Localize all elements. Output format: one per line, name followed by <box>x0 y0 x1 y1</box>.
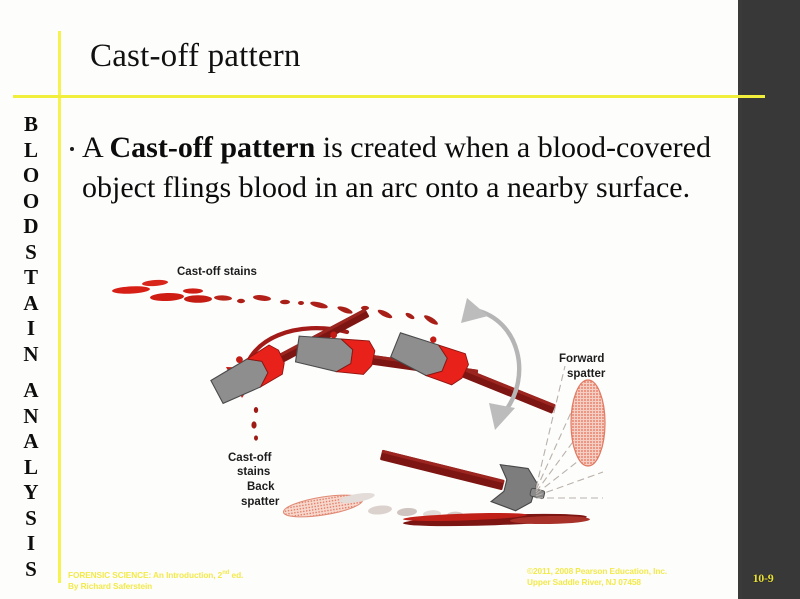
footer-citation-line1: FORENSIC SCIENCE: An Introduction, 2nd e… <box>68 568 398 581</box>
vertical-char-d: D <box>8 214 54 240</box>
vertical-char-l2: L <box>8 455 54 481</box>
vertical-char-n: N <box>8 342 54 368</box>
body-text: A Cast-off pattern is created when a blo… <box>82 128 728 208</box>
label-forward-spatter-2: spatter <box>567 368 606 380</box>
vertical-char-s3: S <box>8 557 54 583</box>
label-forward-spatter-1: Forward <box>559 353 604 365</box>
vertical-char-i2: I <box>8 531 54 557</box>
vertical-rule <box>58 31 61 583</box>
hammer-position-4 <box>376 433 550 516</box>
body-bullet-block: A Cast-off pattern is created when a blo… <box>68 128 728 208</box>
slide-number: 10-9 <box>742 571 784 586</box>
label-castoff-stains-left-1: Cast-off <box>228 452 272 464</box>
vertical-char-i1: I <box>8 316 54 342</box>
footer-copyright: ©2011, 2008 Pearson Education, Inc. Uppe… <box>527 566 742 588</box>
hammer-position-3 <box>389 324 562 424</box>
forward-spatter-oval <box>571 380 605 466</box>
footer-copyright-line2: Upper Saddle River, NJ 07458 <box>527 577 742 588</box>
castoff-stain-trail-top <box>112 279 439 326</box>
vertical-char-l: L <box>8 138 54 164</box>
vertical-char-s2: S <box>8 506 54 532</box>
page-title: Cast-off pattern <box>90 38 301 75</box>
vertical-char-a2: A <box>8 378 54 404</box>
footer-copyright-line1: ©2011, 2008 Pearson Education, Inc. <box>527 566 742 577</box>
bullet-dot-icon <box>70 147 74 151</box>
footer-citation-line2: By Richard Saferstein <box>68 581 398 592</box>
label-castoff-stains-left-2: stains <box>237 466 270 478</box>
vertical-char-a3: A <box>8 429 54 455</box>
castoff-diagram: Cast-off stains Cast-off stains <box>95 258 695 558</box>
slide-canvas: 10-9 Cast-off pattern B L O O D S T A I … <box>0 0 800 599</box>
label-back-spatter-1: Back <box>247 481 275 493</box>
vertical-char-y: Y <box>8 480 54 506</box>
vertical-char-o2: O <box>8 189 54 215</box>
vertical-running-head: B L O O D S T A I N A N A L Y S I S <box>8 112 54 582</box>
castoff-stain-drips-left <box>251 407 258 441</box>
horizontal-rule <box>13 95 765 98</box>
right-decorative-panel-inner <box>742 0 800 599</box>
body-text-emphasis: Cast-off pattern <box>110 131 316 164</box>
body-text-lead: A <box>82 131 110 164</box>
vertical-word-gap <box>8 367 54 378</box>
footer-citation-edition: ed. <box>229 570 243 580</box>
vertical-char-b: B <box>8 112 54 138</box>
vertical-char-s1: S <box>8 240 54 266</box>
vertical-char-a1: A <box>8 291 54 317</box>
vertical-char-t: T <box>8 265 54 291</box>
label-back-spatter-2: spatter <box>241 496 280 508</box>
vertical-char-o1: O <box>8 163 54 189</box>
return-arrow-gray <box>461 298 519 430</box>
footer-citation-title: FORENSIC SCIENCE: An Introduction, 2 <box>68 570 222 580</box>
label-castoff-stains-top: Cast-off stains <box>177 266 257 278</box>
vertical-char-n2: N <box>8 404 54 430</box>
footer-citation: FORENSIC SCIENCE: An Introduction, 2nd e… <box>68 568 398 592</box>
